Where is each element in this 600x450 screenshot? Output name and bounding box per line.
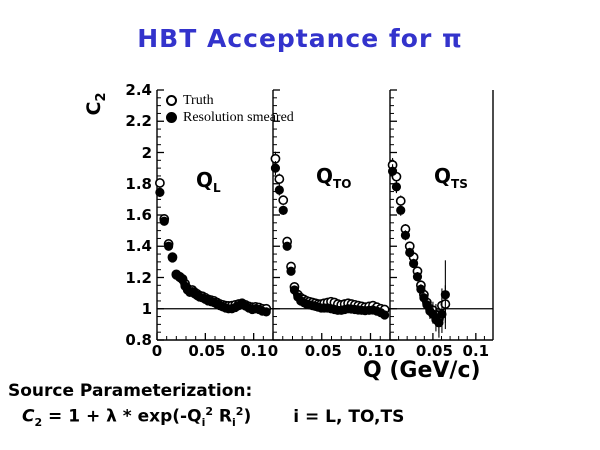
x-tick-label: 0.05	[188, 342, 222, 360]
x-tick-label: 0.05	[305, 342, 339, 360]
panel-label-qto-subscript: TO	[333, 177, 351, 191]
y-tick-label: 1.4	[108, 237, 152, 255]
legend-entry-truth: Truth	[166, 92, 294, 109]
legend-label-truth: Truth	[183, 92, 214, 109]
legend: Truth Resolution smeared	[166, 92, 294, 126]
legend-label-resolution-smeared: Resolution smeared	[183, 109, 294, 126]
formula-r: R	[213, 407, 232, 427]
caption-block: Source Parameterization: C2 = 1 + λ * ex…	[8, 381, 404, 429]
x-tick-label: 0	[151, 342, 163, 360]
panel-label-ql-subscript: L	[213, 181, 221, 195]
x-tick-label: 0.1	[237, 342, 271, 360]
formula-q-superscript: 2	[205, 405, 213, 418]
formula-c: C	[22, 407, 34, 427]
x-tick-label: 0	[267, 342, 279, 360]
y-tick-label: 1.2	[108, 269, 152, 287]
formula-mid: = 1 + λ * exp(-Q	[42, 407, 201, 427]
caption-heading: Source Parameterization:	[8, 381, 404, 401]
caption-formula: C2 = 1 + λ * exp(-Qi2 Ri2)i = L, TO,TS	[22, 405, 404, 429]
y-tick-label: 2.4	[108, 81, 152, 99]
legend-entry-resolution-smeared: Resolution smeared	[166, 109, 294, 126]
y-tick-label: 1.6	[108, 206, 152, 224]
panel-label-qts-text: Q	[434, 164, 451, 188]
y-tick-label: 1.8	[108, 175, 152, 193]
panel-label-ql: QL	[196, 168, 221, 195]
caption-index-note: i = L, TO,TS	[293, 407, 404, 427]
figure-canvas: HBT Acceptance for π C2 Truth Resolution…	[0, 0, 600, 450]
y-tick-label: 2	[108, 144, 152, 162]
panel-label-qts: QTS	[434, 164, 468, 191]
filled-circle-icon	[166, 112, 177, 123]
y-tick-label: 2.2	[108, 112, 152, 130]
panel-label-qts-subscript: TS	[451, 177, 468, 191]
formula-c-subscript: 2	[34, 416, 42, 429]
x-axis-label: Q (GeV/c)	[363, 358, 481, 383]
panel-label-qto-text: Q	[316, 164, 333, 188]
open-circle-icon	[166, 95, 177, 106]
panel-label-qto: QTO	[316, 164, 351, 191]
formula-close: )	[243, 407, 251, 427]
y-tick-label: 1	[108, 300, 152, 318]
y-tick-label: 0.8	[108, 331, 152, 349]
panel-label-ql-text: Q	[196, 168, 213, 192]
